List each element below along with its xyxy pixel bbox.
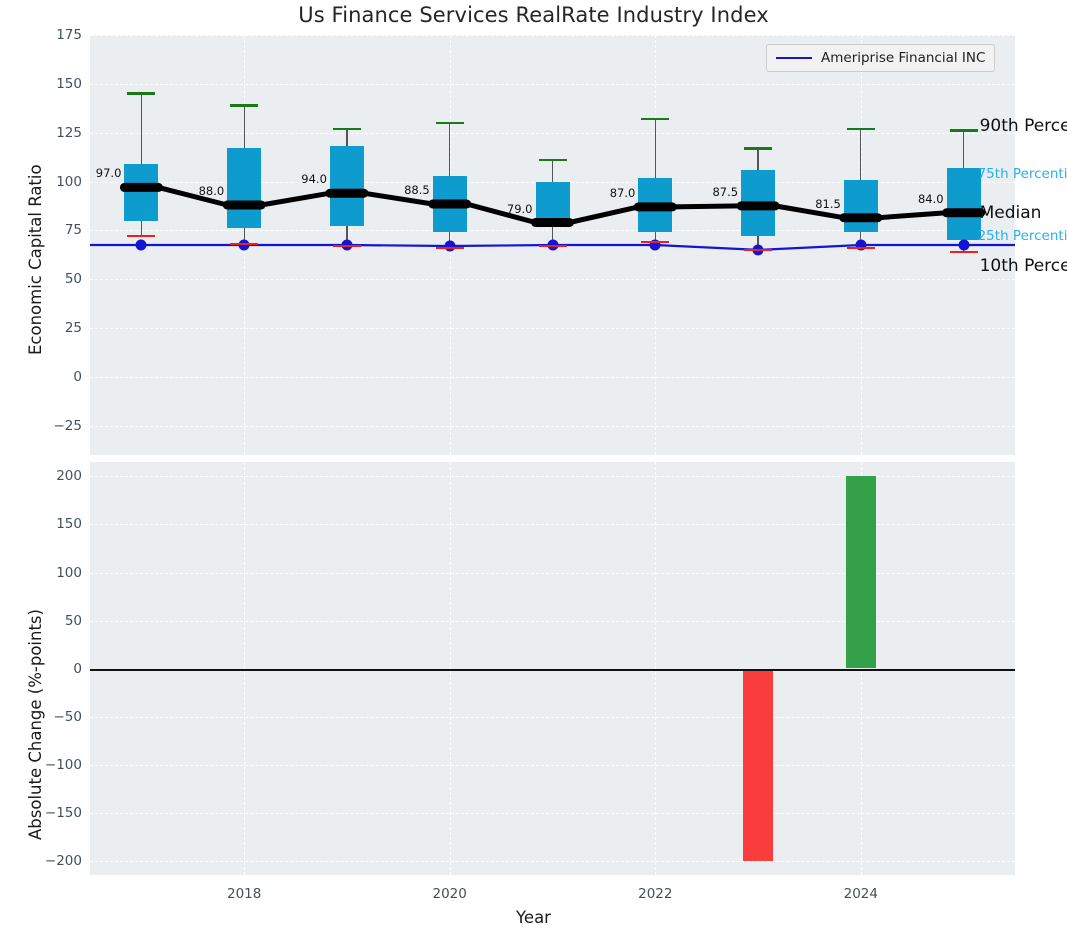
x-tick-label: 2024 [844, 886, 878, 902]
whisker-cap-low [436, 247, 464, 250]
y-tick-label-bottom: 0 [0, 661, 82, 677]
y-tick-label-top: 75 [0, 222, 82, 238]
annotation-p90: 90th Percentile [980, 116, 1067, 136]
change-bar [743, 669, 773, 861]
company-data-point [136, 240, 147, 251]
annotation-p25: 25th Percentile [978, 228, 1067, 244]
chart-panel-absolute-change [90, 462, 1015, 875]
gridline-horizontal [90, 573, 1015, 574]
zero-axis-line [90, 669, 1015, 671]
gridline-horizontal [90, 717, 1015, 718]
gridline-horizontal [90, 621, 1015, 622]
company-data-point [958, 240, 969, 251]
gridline-horizontal [90, 813, 1015, 814]
whisker-cap-low [333, 245, 361, 248]
x-tick-label: 2018 [227, 886, 261, 902]
median-value-label: 84.0 [918, 192, 944, 206]
y-tick-label-bottom: −200 [0, 853, 82, 869]
y-tick-label-bottom: −100 [0, 757, 82, 773]
y-tick-label-bottom: −50 [0, 709, 82, 725]
change-bar [846, 476, 876, 668]
y-tick-label-bottom: −150 [0, 805, 82, 821]
median-value-label: 94.0 [301, 172, 327, 186]
median-value-label: 88.0 [199, 184, 225, 198]
y-tick-label-bottom: 150 [0, 516, 82, 532]
whisker-cap-low [230, 243, 258, 246]
y-tick-label-top: 125 [0, 125, 82, 141]
annotation-median: Median [980, 203, 1042, 223]
annotation-p75: 75th Percentile [978, 166, 1067, 182]
gridline-horizontal [90, 765, 1015, 766]
gridline-horizontal [90, 476, 1015, 477]
y-tick-label-top: 175 [0, 27, 82, 43]
chart-panel-economic-capital-ratio: 97.088.094.088.579.087.087.581.584.0 [90, 35, 1015, 455]
gridline-horizontal [90, 524, 1015, 525]
median-value-label: 81.5 [815, 197, 841, 211]
y-tick-label-bottom: 100 [0, 565, 82, 581]
y-tick-label-top: 25 [0, 320, 82, 336]
median-value-label: 97.0 [96, 166, 122, 180]
y-tick-label-top: 50 [0, 271, 82, 287]
y-tick-label-top: 150 [0, 76, 82, 92]
y-tick-label-top: 0 [0, 369, 82, 385]
x-tick-label: 2020 [433, 886, 467, 902]
whisker-cap-low [127, 235, 155, 238]
y-tick-label-bottom: 200 [0, 468, 82, 484]
whisker-cap-low [539, 245, 567, 248]
chart-legend[interactable]: Ameriprise Financial INC [766, 44, 995, 72]
legend-label: Ameriprise Financial INC [821, 50, 985, 66]
x-tick-label: 2022 [638, 886, 672, 902]
median-value-label: 79.0 [507, 202, 533, 216]
page-title: Us Finance Services RealRate Industry In… [0, 3, 1067, 27]
whisker-cap-low [950, 251, 978, 254]
y-tick-label-bottom: 50 [0, 613, 82, 629]
median-value-label: 88.5 [404, 183, 430, 197]
legend-line-icon [776, 57, 812, 59]
gridline-horizontal [90, 861, 1015, 862]
median-value-label: 87.0 [610, 186, 636, 200]
whisker-cap-low [641, 241, 669, 244]
y-tick-label-top: 100 [0, 174, 82, 190]
x-axis-label: Year [0, 908, 1067, 927]
annotation-p10: 10th Percentile [980, 256, 1067, 276]
whisker-cap-low [847, 247, 875, 250]
y-tick-label-top: −25 [0, 418, 82, 434]
whisker-cap-low [744, 249, 772, 252]
median-value-label: 87.5 [712, 185, 738, 199]
